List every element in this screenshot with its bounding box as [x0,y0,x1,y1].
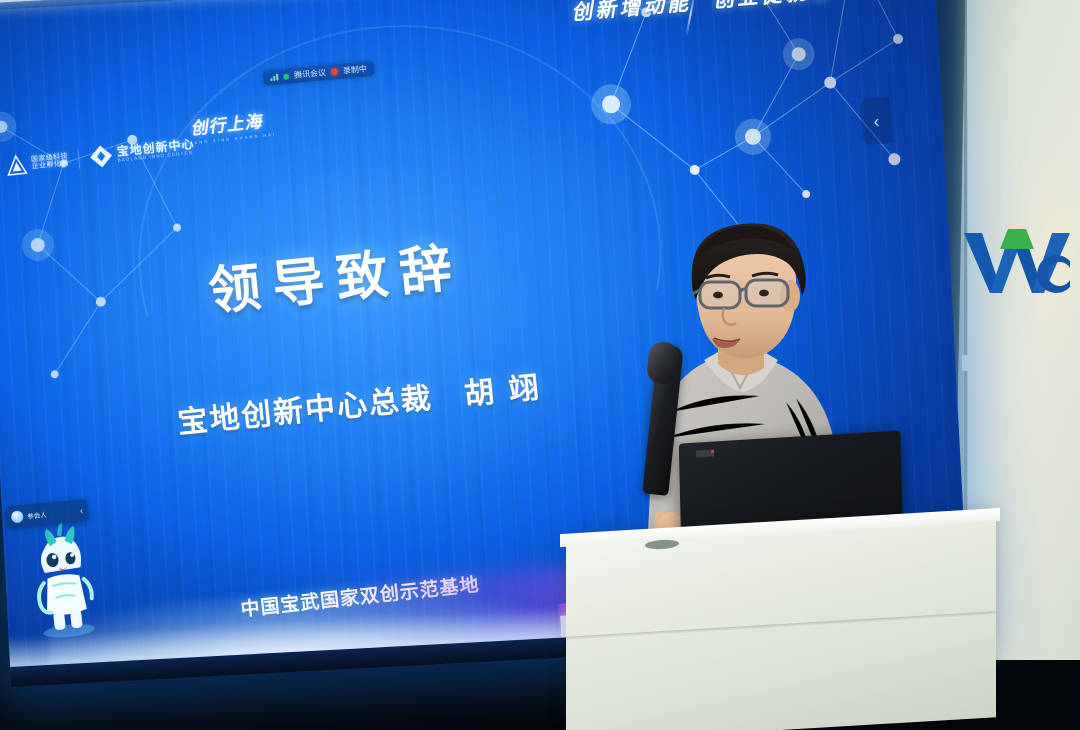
diamond-flower-icon [88,143,114,169]
signal-bars-icon [270,74,279,82]
avatar-icon [11,510,24,523]
screenshot-root: 创新增动能 创业促就业 腾讯会议 录制中 国家级科技 企业孵化器 [0,0,1080,730]
chevron-left-icon[interactable]: ‹ [79,506,83,515]
logo-divider [77,149,80,169]
participant-name: 参会人 [27,506,77,521]
meeting-collapse-button[interactable]: ‹ [859,97,893,146]
meeting-app-label: 腾讯会议 [294,67,327,81]
thinkpad-logo-dot-icon [711,450,714,453]
wall-switch-icon[interactable] [962,355,968,371]
triangle-mark-icon [5,153,29,177]
recording-dot-icon [331,68,339,76]
recording-label: 录制中 [342,63,367,76]
we-wall-logo [962,215,1080,307]
chevron-left-icon: ‹ [873,112,880,129]
status-dot-green-icon [283,73,290,80]
unicorn-mascot [17,515,109,643]
podium [566,511,996,730]
